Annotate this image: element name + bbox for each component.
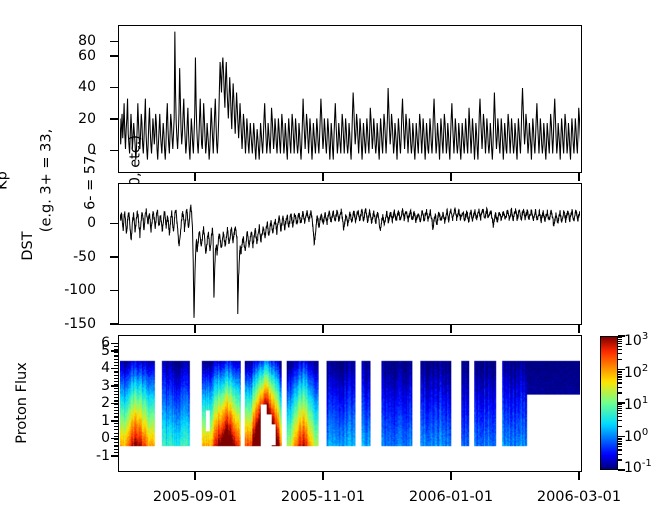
figure-canvas: Kp (e.g. 3+ = 33, 6- = 57, 4 = 40, etc.)…: [0, 0, 665, 523]
flux-minor-tick: [114, 381, 118, 382]
dst-ytick-100: [110, 290, 118, 292]
flux-minor-tick: [114, 365, 118, 366]
kp-ytick-label-40: 40: [78, 79, 96, 95]
flux-minor-tick: [114, 404, 118, 405]
colorbar-minor-tick: [618, 371, 622, 372]
colorbar-minor-tick: [618, 438, 622, 439]
dst-ytick-50: [110, 256, 118, 258]
flux-minor-tick: [114, 455, 118, 456]
kp-xtick-major-2: [450, 173, 452, 181]
flux-xtick-major-1: [322, 472, 324, 480]
flux-ytick-label-0: 0: [101, 430, 110, 446]
dst-axis-label-main: DST: [21, 196, 36, 296]
flux-minor-tick: [114, 407, 118, 408]
flux-minor-tick: [114, 410, 118, 411]
flux-minor-tick: [114, 352, 118, 353]
xtick-label-1: 2005-11-01: [281, 489, 365, 505]
colorbar-minor-tick: [618, 379, 622, 380]
colorbar: [600, 336, 618, 470]
colorbar-label-1e0: 100: [624, 427, 648, 445]
kp-line: [120, 31, 581, 159]
flux-minor-tick: [114, 371, 118, 372]
flux-minor-tick: [114, 423, 118, 424]
flux-minor-tick: [114, 375, 118, 376]
dst-ytick-label-150: -150: [64, 316, 96, 332]
colorbar-minor-tick: [618, 387, 622, 388]
flux-minor-tick: [114, 452, 118, 453]
flux-minor-tick: [114, 391, 118, 392]
flux-minor-tick: [114, 388, 118, 389]
flux-ytick-label-m1: -1: [96, 448, 110, 464]
colorbar-minor-tick: [618, 337, 622, 338]
colorbar-minor-tick: [618, 416, 622, 417]
colorbar-minor-tick: [618, 439, 622, 440]
colorbar-minor-tick: [618, 404, 622, 405]
dst-axis-label: DST: [0, 196, 65, 296]
colorbar-minor-tick: [618, 459, 622, 460]
kp-ytick-label-0: 0: [87, 142, 96, 158]
colorbar-minor-tick: [618, 376, 622, 377]
proton-flux-axis-label: Proton Flux: [0, 338, 59, 468]
colorbar-minor-tick: [618, 343, 622, 344]
flux-ytick-label-4: 4: [101, 360, 110, 376]
colorbar-minor-tick: [618, 410, 622, 411]
colorbar-label-1e2-mantissa: 10: [624, 365, 642, 381]
flux-ytick-label-6: 6: [101, 335, 110, 351]
flux-minor-tick: [114, 436, 118, 437]
proton-flux-spectrogram: [120, 337, 581, 471]
colorbar-minor-tick: [618, 413, 622, 414]
kp-ytick-80: [110, 41, 118, 43]
flux-minor-tick: [114, 362, 118, 363]
dst-ytick-label-100: -100: [64, 282, 96, 298]
colorbar-minor-tick: [618, 346, 622, 347]
colorbar-label-1e1-exponent: 1: [642, 395, 648, 406]
proton-flux-axis-label-main: Proton Flux: [15, 338, 30, 468]
dst-ytick-label-50: -50: [73, 249, 96, 265]
xtick-label-2: 2006-01-01: [409, 489, 493, 505]
dst-xtick-major-3: [578, 325, 580, 333]
flux-minor-tick: [114, 449, 118, 450]
dst-xtick-major-0: [194, 325, 196, 333]
flux-minor-tick: [114, 400, 118, 401]
kp-ytick-60: [110, 55, 118, 57]
colorbar-label-1e2-exponent: 2: [642, 363, 648, 374]
flux-xtick-major-2: [450, 472, 452, 480]
dst-ytick-0: [110, 223, 118, 225]
dst-xtick-major-1: [322, 325, 324, 333]
flux-minor-tick: [114, 416, 118, 417]
colorbar-label-1e1: 101: [624, 395, 648, 413]
flux-minor-tick: [114, 349, 118, 350]
colorbar-minor-tick: [618, 382, 622, 383]
flux-minor-tick: [114, 439, 118, 440]
flux-ytick-label-3: 3: [101, 378, 110, 394]
colorbar-minor-tick: [618, 426, 622, 427]
colorbar-minor-tick: [618, 449, 622, 450]
flux-minor-tick: [114, 420, 118, 421]
dst-series-plot: [120, 185, 581, 324]
colorbar-minor-tick: [618, 392, 622, 393]
flux-ytick-label-2: 2: [101, 395, 110, 411]
colorbar-minor-tick: [618, 349, 622, 350]
flux-minor-tick: [114, 384, 118, 385]
flux-ytick-label-1: 1: [101, 413, 110, 429]
flux-minor-tick: [114, 355, 118, 356]
colorbar-minor-tick: [618, 420, 622, 421]
colorbar-minor-tick: [618, 443, 622, 444]
colorbar-label-1e2: 102: [624, 363, 648, 381]
colorbar-minor-tick: [618, 441, 622, 442]
xtick-label-3: 2006-03-01: [537, 489, 621, 505]
xtick-label-0: 2005-09-01: [153, 489, 237, 505]
kp-ytick-40: [110, 87, 118, 89]
flux-minor-tick: [114, 426, 118, 427]
dst-xtick-major-2: [450, 325, 452, 333]
colorbar-label-1e0-exponent: 0: [642, 427, 648, 438]
flux-minor-tick: [114, 368, 118, 369]
colorbar-label-1em1-exponent: -1: [642, 458, 652, 469]
colorbar-label-1em1-mantissa: 10: [624, 460, 642, 476]
kp-ytick-label-60: 60: [78, 48, 96, 64]
flux-minor-tick: [114, 346, 118, 347]
colorbar-minor-tick: [618, 374, 622, 375]
flux-minor-tick: [114, 378, 118, 379]
colorbar-label-1e3-mantissa: 10: [624, 333, 642, 349]
flux-minor-tick: [114, 343, 118, 344]
kp-ytick-20: [110, 118, 118, 120]
kp-ytick-0: [110, 150, 118, 152]
colorbar-label-1e1-mantissa: 10: [624, 397, 642, 413]
colorbar-minor-tick: [618, 359, 622, 360]
colorbar-label-1em1: 10-1: [624, 458, 652, 476]
colorbar-minor-tick: [618, 341, 622, 342]
kp-axis-label-note2: 6- = 57,: [84, 105, 99, 255]
colorbar-label-1e0-mantissa: 10: [624, 429, 642, 445]
flux-minor-tick: [114, 394, 118, 395]
flux-minor-tick: [114, 433, 118, 434]
flux-minor-tick: [114, 442, 118, 443]
colorbar-minor-tick: [618, 408, 622, 409]
colorbar-label-1e3-exponent: 3: [642, 331, 648, 342]
colorbar-minor-tick: [618, 372, 622, 373]
colorbar-minor-tick: [618, 406, 622, 407]
flux-minor-tick: [114, 359, 118, 360]
kp-ytick-label-20: 20: [78, 111, 96, 127]
flux-minor-tick: [114, 429, 118, 430]
colorbar-minor-tick: [618, 353, 622, 354]
colorbar-minor-tick: [618, 446, 622, 447]
colorbar-minor-tick: [618, 454, 622, 455]
flux-minor-tick: [114, 397, 118, 398]
dst-ytick-label-0: 0: [87, 215, 96, 231]
flux-xtick-major-0: [194, 472, 196, 480]
dst-ytick-150: [110, 323, 118, 325]
dst-line: [120, 204, 581, 317]
kp-xtick-major-3: [578, 173, 580, 181]
kp-xtick-major-0: [194, 173, 196, 181]
kp-series-plot: [120, 27, 581, 172]
flux-minor-tick: [114, 445, 118, 446]
flux-xtick-major-3: [578, 472, 580, 480]
flux-minor-tick: [114, 413, 118, 414]
colorbar-minor-tick: [618, 339, 622, 340]
kp-xtick-major-1: [322, 173, 324, 181]
colorbar-label-1e3: 103: [624, 331, 648, 349]
kp-ytick-label-80: 80: [78, 33, 96, 49]
